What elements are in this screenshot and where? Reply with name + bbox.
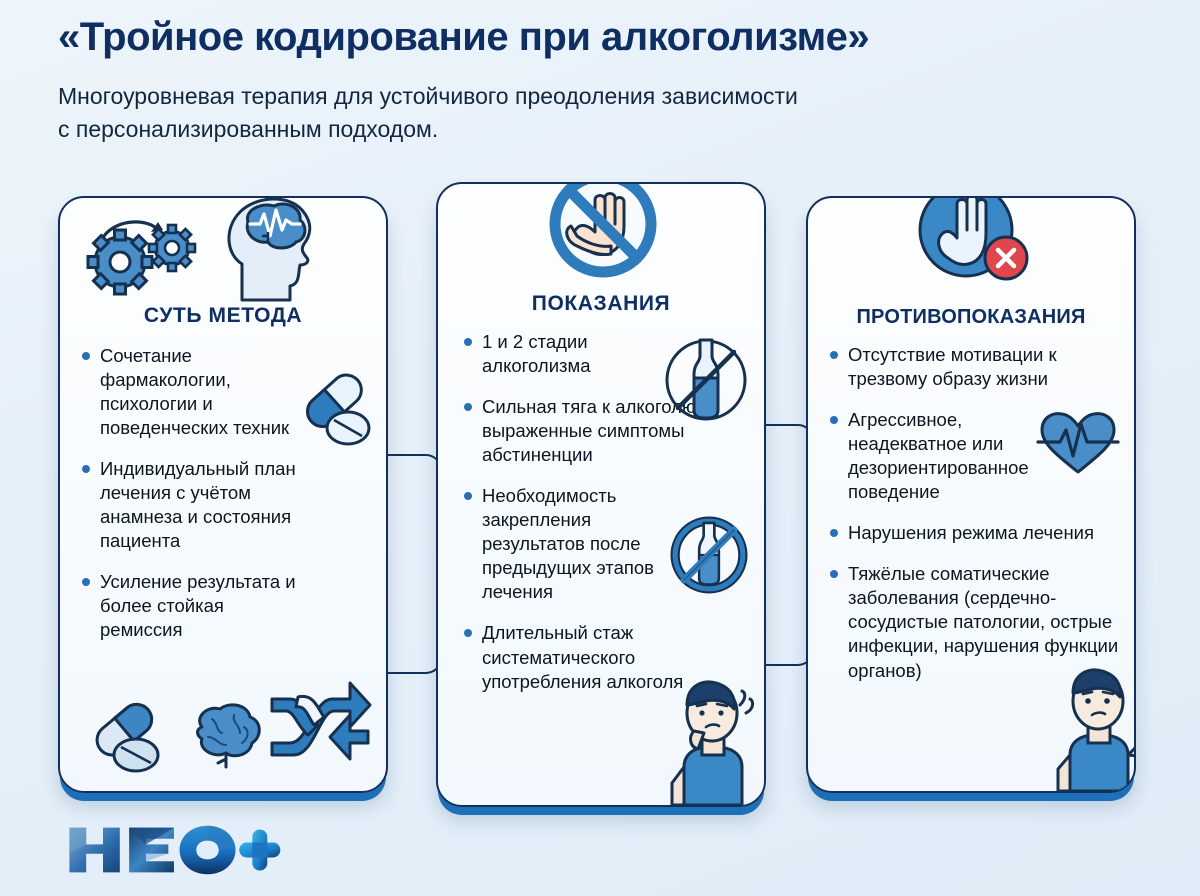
capsule-pill-bottom-icon — [88, 697, 174, 777]
list-item: Сочетание фармакологии, психологии и пов… — [82, 344, 306, 440]
list-item: Нарушения режима лечения — [830, 521, 1126, 545]
list-item: Отсутствие мотивации к трезвому образу ж… — [830, 343, 1126, 391]
card1-head-icons — [60, 198, 386, 302]
card-protivopokazaniya[interactable]: ПРОТИВОПОКАЗАНИЯ Отсутствие мотивации к … — [806, 196, 1136, 793]
shuffle-arrows-icon — [268, 673, 372, 769]
no-bottle-icon — [660, 334, 752, 426]
card3-head-icons — [808, 198, 1134, 302]
card2-title: ПОКАЗАНИЯ — [438, 292, 764, 316]
card-connector-1-2 — [380, 454, 442, 674]
heart-pulse-icon — [1036, 406, 1120, 478]
page-header: «Тройное кодирование при алкоголизме» Мн… — [58, 14, 1168, 145]
brain-icon — [188, 701, 266, 773]
worried-man-icon — [654, 671, 764, 805]
card1-title: СУТЬ МЕТОДА — [60, 304, 386, 328]
neo-plus-logo[interactable] — [58, 822, 288, 878]
man-raising-hand-icon — [1046, 661, 1134, 791]
page-title: «Тройное кодирование при алкоголизме» — [58, 14, 1168, 60]
gears-icon — [78, 210, 210, 296]
hand-stop-cross-icon — [908, 198, 1032, 294]
head-brain-pulse-icon — [212, 198, 334, 304]
card2-head-icons — [438, 184, 764, 288]
page-subtitle: Многоуровневая терапия для устойчивого п… — [58, 80, 1168, 145]
no-bottle-small-icon — [668, 514, 750, 596]
list-item: Усиление результата и более стойкая реми… — [82, 570, 306, 642]
card-pokazaniya[interactable]: ПОКАЗАНИЯ 1 и 2 стадии алкоголизма Сильн… — [436, 182, 766, 807]
card3-title: ПРОТИВОПОКАЗАНИЯ — [808, 306, 1134, 329]
page-subtitle-line-2: с персонализированным подходом. — [58, 113, 1168, 146]
card3-bullet-list: Отсутствие мотивации к трезвому образу ж… — [808, 343, 1134, 683]
card-sut-metoda[interactable]: СУТЬ МЕТОДА Сочетание фармакологии, псих… — [58, 196, 388, 793]
list-item: Индивидуальный план лечения с учётом ана… — [82, 457, 306, 553]
cards-row: СУТЬ МЕТОДА Сочетание фармакологии, псих… — [0, 196, 1200, 801]
page-subtitle-line-1: Многоуровневая терапия для устойчивого п… — [58, 80, 1168, 113]
no-hand-stop-icon — [545, 184, 661, 282]
capsule-pill-icon — [296, 366, 378, 450]
